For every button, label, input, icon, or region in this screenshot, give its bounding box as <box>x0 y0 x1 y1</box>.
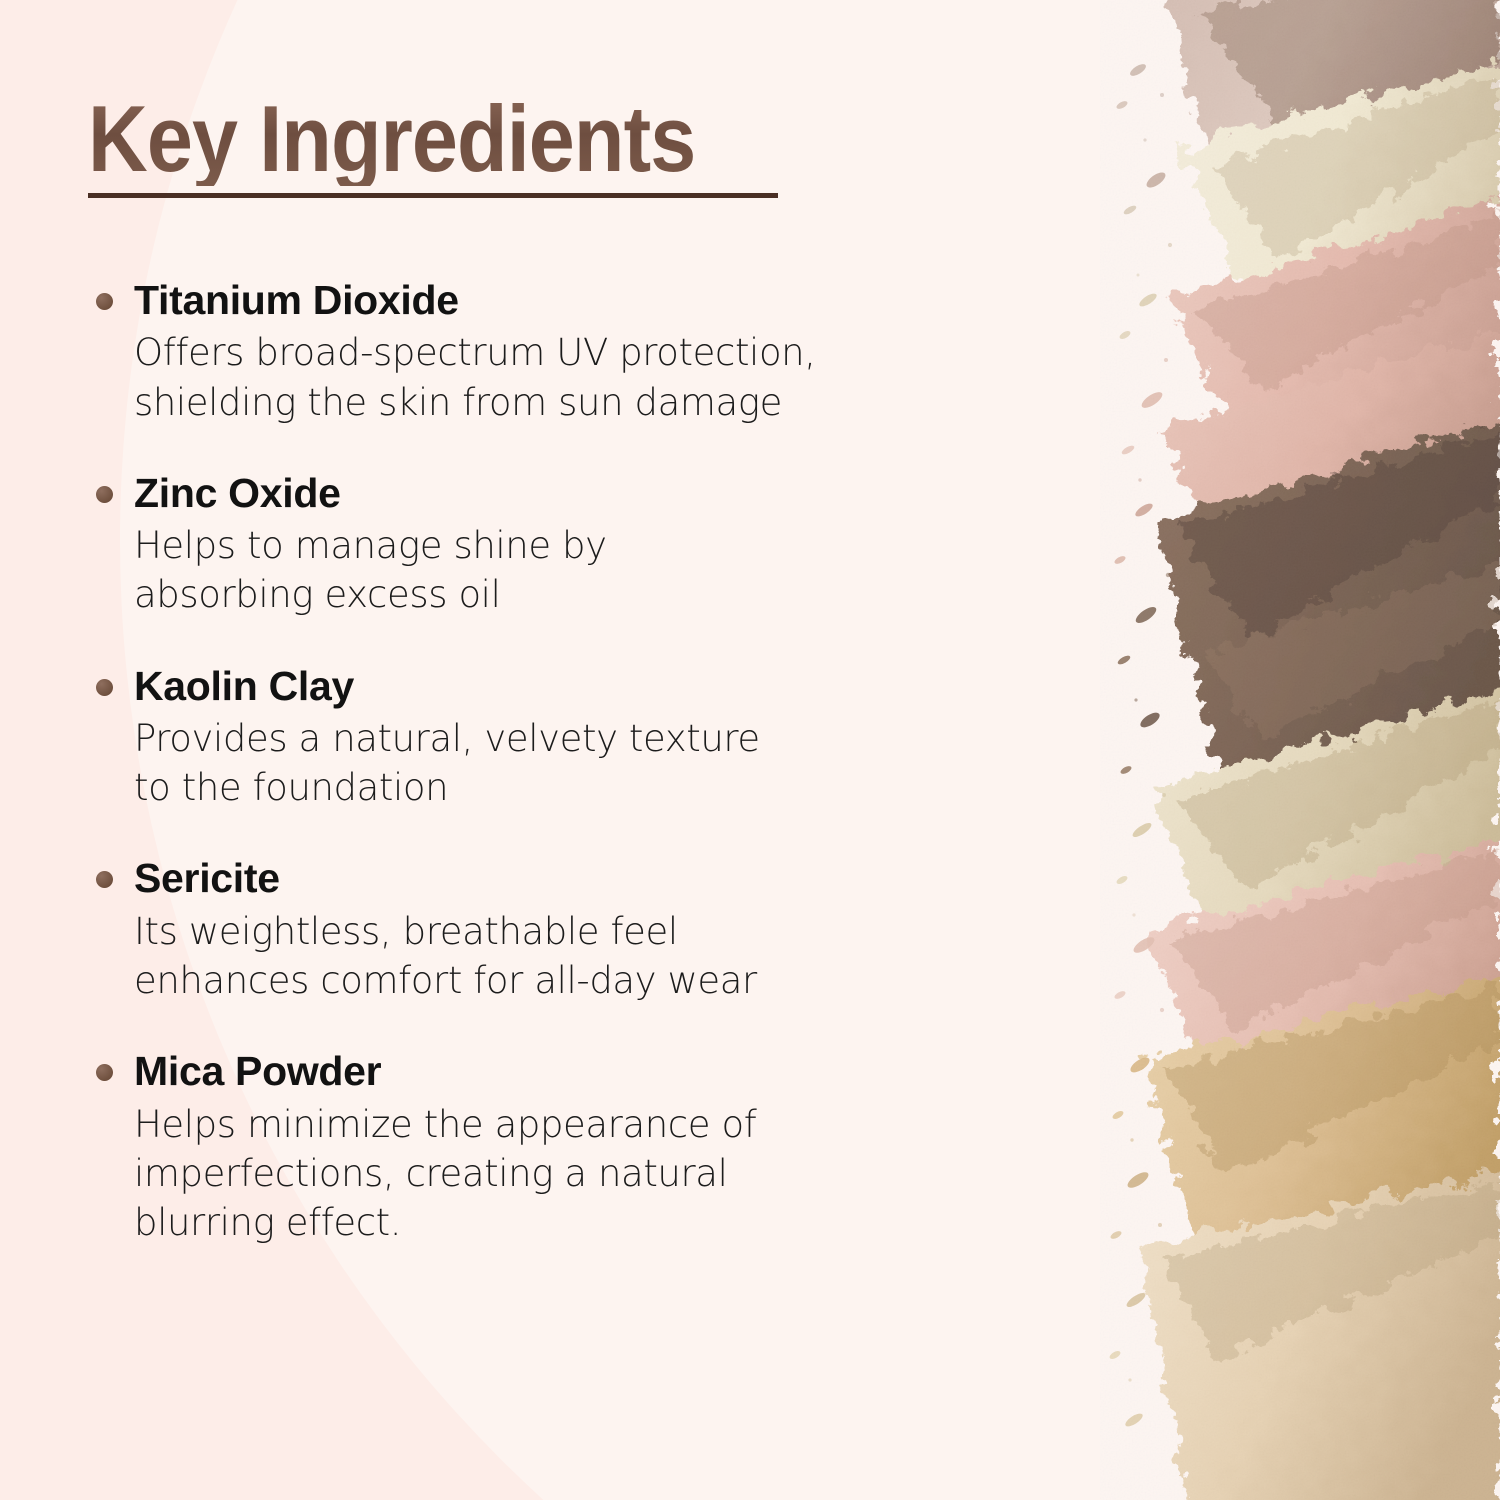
ingredient-description: Its weightless, breathable feel enhances… <box>134 907 988 1005</box>
ingredient-name: Zinc Oxide <box>134 469 988 517</box>
ingredient-description: Helps minimize the appearance of imperfe… <box>134 1100 988 1248</box>
content-column: Key Ingredients Titanium Dioxide Offers … <box>88 92 988 1247</box>
list-item: Mica Powder Helps minimize the appearanc… <box>88 1047 988 1247</box>
ingredient-description: Helps to manage shine by absorbing exces… <box>134 521 988 619</box>
list-item: Titanium Dioxide Offers broad-spectrum U… <box>88 276 988 427</box>
ingredient-list: Titanium Dioxide Offers broad-spectrum U… <box>88 276 988 1247</box>
list-item: Sericite Its weightless, breathable feel… <box>88 854 988 1005</box>
ingredient-name: Titanium Dioxide <box>134 276 988 324</box>
bullet-dot-icon <box>96 486 113 503</box>
ingredient-name: Sericite <box>134 854 988 902</box>
title-underline-rule <box>88 193 778 198</box>
ingredient-name: Mica Powder <box>134 1047 988 1095</box>
bullet-dot-icon <box>96 1064 113 1081</box>
bullet-dot-icon <box>96 293 113 310</box>
page-title: Key Ingredients <box>88 92 695 186</box>
powder-swatch-illustration <box>1100 0 1500 1500</box>
list-item: Zinc Oxide Helps to manage shine by abso… <box>88 469 988 620</box>
bullet-dot-icon <box>96 679 113 696</box>
ingredient-description: Offers broad-spectrum UV protection, shi… <box>134 328 988 426</box>
bullet-dot-icon <box>96 871 113 888</box>
key-ingredients-page: Key Ingredients Titanium Dioxide Offers … <box>0 0 1500 1500</box>
ingredient-description: Provides a natural, velvety texture to t… <box>134 714 988 812</box>
page-title-wrapper: Key Ingredients <box>88 92 778 198</box>
ingredient-name: Kaolin Clay <box>134 662 988 710</box>
list-item: Kaolin Clay Provides a natural, velvety … <box>88 662 988 813</box>
powder-swatch-image <box>1100 0 1500 1500</box>
